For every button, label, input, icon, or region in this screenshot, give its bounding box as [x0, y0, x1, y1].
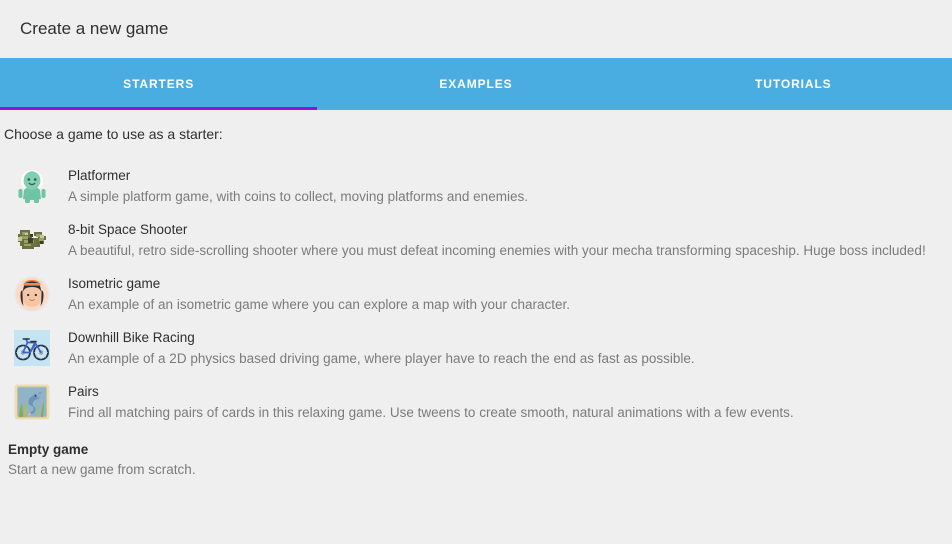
- starter-title: Pairs: [68, 382, 944, 401]
- dialog-header: Create a new game: [0, 0, 952, 58]
- starter-description: A simple platform game, with coins to co…: [68, 187, 944, 206]
- list-item-text: Pairs Find all matching pairs of cards i…: [68, 382, 944, 422]
- starter-title: Platformer: [68, 166, 944, 185]
- empty-game-description: Start a new game from scratch.: [8, 460, 944, 479]
- starters-panel: Choose a game to use as a starter:: [0, 110, 952, 479]
- page-title: Create a new game: [20, 18, 168, 40]
- bicycle-icon: [14, 330, 50, 366]
- list-item-text: Platformer A simple platform game, with …: [68, 166, 944, 206]
- list-item[interactable]: Downhill Bike Racing An example of a 2D …: [0, 328, 952, 382]
- tab-bar: STARTERS EXAMPLES TUTORIALS: [0, 58, 952, 110]
- tab-tutorials-label: TUTORIALS: [755, 77, 832, 91]
- starter-description: A beautiful, retro side-scrolling shoote…: [68, 241, 944, 260]
- list-item-text: Downhill Bike Racing An example of a 2D …: [68, 328, 944, 368]
- starter-title: Isometric game: [68, 274, 944, 293]
- empty-game-title: Empty game: [8, 440, 944, 459]
- tab-tutorials[interactable]: TUTORIALS: [635, 58, 952, 110]
- list-item[interactable]: Isometric game An example of an isometri…: [0, 274, 952, 328]
- starter-list: Platformer A simple platform game, with …: [0, 144, 952, 436]
- starter-description: An example of a 2D physics based driving…: [68, 349, 944, 368]
- starter-description: Find all matching pairs of cards in this…: [68, 403, 944, 422]
- list-item-text: Isometric game An example of an isometri…: [68, 274, 944, 314]
- pixel-spaceship-icon: [14, 222, 50, 258]
- list-item-text: 8-bit Space Shooter A beautiful, retro s…: [68, 220, 944, 260]
- starter-title: 8-bit Space Shooter: [68, 220, 944, 239]
- list-item[interactable]: 8-bit Space Shooter A beautiful, retro s…: [0, 220, 952, 274]
- seahorse-card-icon: [14, 384, 50, 420]
- tab-examples-label: EXAMPLES: [439, 77, 512, 91]
- starter-description: An example of an isometric game where yo…: [68, 295, 944, 314]
- tab-starters-label: STARTERS: [123, 77, 194, 91]
- platformer-character-icon: [14, 168, 50, 204]
- list-item[interactable]: Pairs Find all matching pairs of cards i…: [0, 382, 952, 436]
- tab-examples[interactable]: EXAMPLES: [317, 58, 634, 110]
- empty-game-item[interactable]: Empty game Start a new game from scratch…: [0, 436, 952, 479]
- choose-starter-label: Choose a game to use as a starter:: [0, 110, 952, 144]
- list-item[interactable]: Platformer A simple platform game, with …: [0, 166, 952, 220]
- character-avatar-icon: [14, 276, 50, 312]
- starter-title: Downhill Bike Racing: [68, 328, 944, 347]
- tab-starters[interactable]: STARTERS: [0, 58, 317, 110]
- active-tab-indicator: [0, 107, 317, 110]
